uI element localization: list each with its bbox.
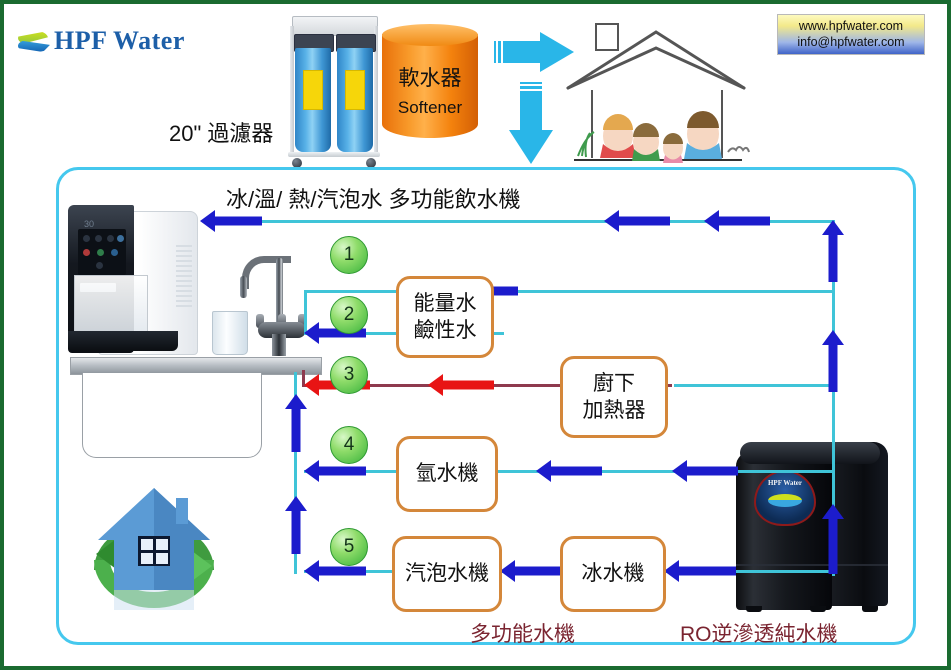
green-house-recycle-icon <box>76 474 232 614</box>
drinking-glass-icon <box>212 311 248 355</box>
arrow-left-hot-mid <box>428 374 494 396</box>
family-house-sketch-icon <box>560 18 756 170</box>
softener-label-en: Softener <box>382 98 478 118</box>
contact-info-box: www.hpfwater.com info@hpfwater.com <box>777 14 925 55</box>
caption-multifunction: 多功能水機 <box>470 618 575 648</box>
box-heater-line2: 加熱器 <box>583 397 646 424</box>
arrow-left-row5-mid <box>500 560 562 582</box>
step-marker-2: 2 <box>330 296 368 334</box>
brand-logo: HPF Water <box>18 26 185 56</box>
softener-tank-icon: 軟水器 Softener <box>382 24 478 148</box>
step-marker-3: 3 <box>330 356 368 394</box>
diagram-canvas: HPF Water www.hpfwater.com info@hpfwater… <box>0 0 951 670</box>
arrow-left-row5-in <box>664 560 736 582</box>
arrow-up-riser-1 <box>285 394 307 452</box>
step-marker-1: 1 <box>330 236 368 274</box>
page-title: 冰/溫/ 熱/汽泡水 多功能飲水機 <box>226 182 521 214</box>
twenty-inch-filter-icon <box>286 12 382 172</box>
box-ice-water: 冰水機 <box>560 536 666 612</box>
box-energy-water-line1: 能量水 <box>414 290 477 317</box>
arrow-left-row4-in <box>672 460 738 482</box>
arrow-up-riser-2 <box>285 496 307 554</box>
ro-purifier-icon: HPF Water <box>732 434 892 614</box>
ro-badge-text: HPF Water <box>756 479 814 487</box>
step-marker-4: 4 <box>330 426 368 464</box>
pipe-heater-supply <box>674 384 834 387</box>
arrow-left-row4-mid <box>536 460 602 482</box>
arrow-left-row1-mid <box>604 210 670 232</box>
under-sink-cabinet-icon <box>82 373 262 458</box>
box-ice-label: 冰水機 <box>582 560 645 587</box>
box-energy-water-line2: 鹼性水 <box>414 317 477 344</box>
arrow-left-row1-out <box>200 210 262 232</box>
arrow-up-trunk-1 <box>822 220 844 282</box>
brand-name: HPF Water <box>54 26 185 56</box>
water-dispenser-icon: 30 <box>66 201 198 356</box>
arrow-left-row4-out <box>304 460 366 482</box>
box-sparkling-label: 汽泡水機 <box>405 560 489 587</box>
arrow-up-trunk-3 <box>822 504 844 574</box>
box-energy-water: 能量水 鹼性水 <box>396 276 494 358</box>
box-heater-line1: 廚下 <box>593 370 635 397</box>
cyan-arrow-down-icon <box>509 82 553 164</box>
box-under-sink-heater: 廚下 加熱器 <box>560 356 668 438</box>
website-text: www.hpfwater.com <box>784 19 918 35</box>
pipe-left-top <box>294 372 297 374</box>
arrow-up-trunk-2 <box>822 330 844 392</box>
box-sparkling-water: 汽泡水機 <box>392 536 502 612</box>
email-text: info@hpfwater.com <box>784 35 918 51</box>
pipe-row-2 <box>304 290 834 293</box>
softener-label-cn: 軟水器 <box>382 62 478 92</box>
filter-label: 20" 過濾器 <box>169 116 273 148</box>
water-swoosh-icon <box>18 29 52 53</box>
box-hydrogen-water: 氫水機 <box>396 436 498 512</box>
caption-ro-system: RO逆滲透純水機 <box>680 618 838 648</box>
step-marker-5: 5 <box>330 528 368 566</box>
box-hydrogen-label: 氫水機 <box>416 460 479 487</box>
arrow-left-row1-in <box>704 210 770 232</box>
